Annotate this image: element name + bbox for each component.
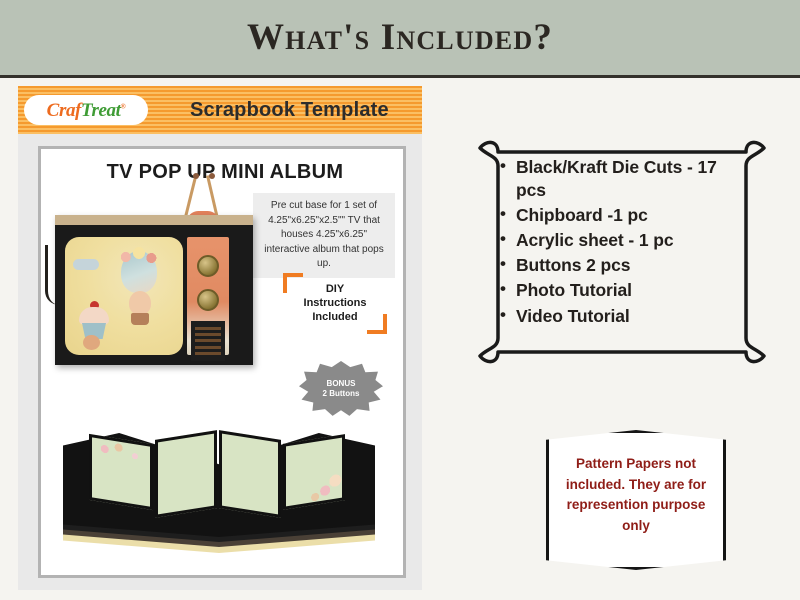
speaker-slat — [195, 327, 221, 330]
list-item: Buttons 2 pcs — [498, 254, 750, 277]
tv-control-panel — [187, 237, 229, 355]
tv-body — [55, 215, 253, 365]
brand-banner: CrafTreat® Scrapbook Template — [18, 86, 422, 134]
album-panel — [89, 434, 153, 510]
product-panel: CrafTreat® Scrapbook Template TV POP UP … — [18, 86, 422, 590]
album-product-photo — [53, 399, 391, 565]
diy-badge-line-2: Instructions — [293, 297, 377, 311]
antenna-tip-right — [209, 173, 215, 179]
tv-speaker-grille — [191, 321, 225, 361]
balloon-basket-illustration — [131, 313, 149, 325]
flowers-illustration — [117, 247, 161, 267]
speaker-slat — [195, 346, 221, 349]
tv-product-photo — [55, 215, 253, 365]
logo-text-craf: Craf — [47, 100, 81, 121]
registered-trademark-icon: ® — [120, 102, 125, 110]
list-item: Video Tutorial — [498, 305, 750, 328]
bonus-badge-line-2: 2 Buttons — [323, 389, 360, 399]
diy-badge-line-1: DIY — [293, 283, 377, 297]
list-item: Photo Tutorial — [498, 279, 750, 302]
logo-wordmark: CrafTreat® — [47, 101, 126, 120]
diy-badge-line-3: Included — [293, 311, 377, 325]
tv-knob-upper — [197, 255, 219, 277]
page-header: What's Included? — [0, 0, 800, 78]
album-page-stack — [63, 433, 375, 553]
included-items-frame: Black/Kraft Die Cuts - 17 pcs Chipboard … — [476, 138, 768, 366]
banner-title: Scrapbook Template — [190, 99, 389, 122]
speaker-slat — [195, 339, 221, 342]
tv-knob-lower — [197, 289, 219, 311]
disclaimer-text: Pattern Papers not included. They are fo… — [558, 454, 714, 536]
diy-instructions-badge: DIY Instructions Included — [289, 277, 381, 330]
list-item: Acrylic sheet - 1 pc — [498, 229, 750, 252]
bunny-character-illustration — [129, 291, 151, 315]
speaker-slat — [195, 352, 221, 355]
bear-character-illustration — [83, 335, 100, 350]
poster-page: What's Included? CrafTreat® Scrapbook Te… — [0, 0, 800, 600]
included-items-list: Black/Kraft Die Cuts - 17 pcs Chipboard … — [498, 156, 750, 330]
tv-screen — [65, 237, 183, 355]
page-title: What's Included? — [247, 16, 553, 59]
craftreat-logo: CrafTreat® — [24, 95, 148, 125]
bonus-badge-line-1: BONUS — [327, 379, 356, 389]
product-image-card: TV POP UP MINI ALBUM Pre cut base for 1 … — [38, 146, 406, 578]
product-description: Pre cut base for 1 set of 4.25"x6.25"x2.… — [253, 193, 395, 278]
panel-decoration — [92, 437, 150, 506]
panel-decoration — [286, 438, 342, 507]
disclaimer-banner: Pattern Papers not included. They are fo… — [546, 430, 726, 570]
antenna-tip-left — [193, 173, 199, 179]
album-panel — [155, 430, 217, 518]
logo-text-treat: Treat — [81, 100, 121, 121]
cloud-illustration — [73, 259, 99, 270]
list-item: Chipboard -1 pc — [498, 204, 750, 227]
album-panel — [283, 434, 345, 510]
album-panel — [219, 430, 281, 518]
speaker-slat — [195, 333, 221, 336]
cupcake-frosting — [79, 307, 109, 325]
list-item: Black/Kraft Die Cuts - 17 pcs — [498, 156, 750, 202]
